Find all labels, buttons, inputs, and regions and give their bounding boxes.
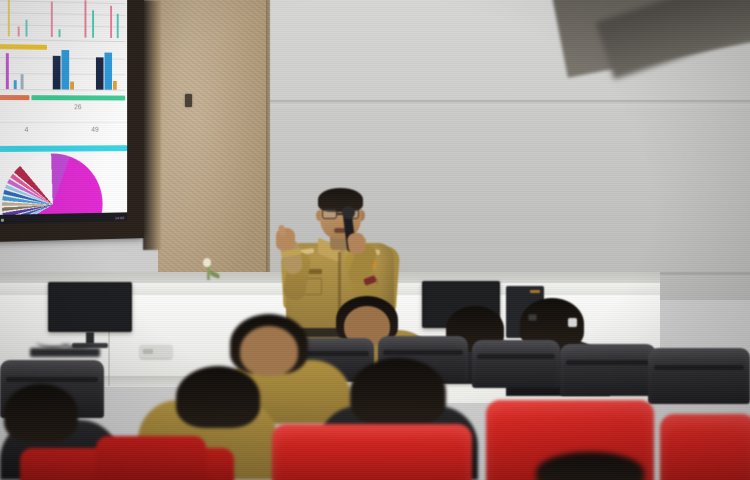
chair-red-center[interactable] [272, 424, 472, 480]
projector-device[interactable] [140, 345, 172, 358]
wall-seam-upper [250, 100, 750, 104]
pie-chart [0, 153, 125, 220]
audience-glasses-icon [528, 314, 537, 321]
chart-middle-bars [0, 49, 127, 98]
wall-switch-icon[interactable] [185, 94, 192, 107]
projection-screen[interactable]: 26 4 49 14:05 [0, 0, 127, 224]
pc-tower-logo [530, 290, 540, 293]
chair-red-left-2[interactable] [96, 436, 206, 480]
kpi-value-b: 4 [18, 127, 36, 134]
wall-tan-panel [158, 0, 270, 285]
hair-clip-icon [568, 318, 577, 327]
chair-black-5[interactable] [648, 348, 750, 404]
accent-bar-green [31, 95, 125, 100]
accent-bar-orange [0, 95, 29, 100]
dashboard-canvas: 26 4 49 14:05 [0, 0, 127, 224]
accent-bar-cyan [0, 145, 127, 152]
glasses-lens-left-icon [322, 209, 337, 219]
chair-black-3[interactable] [472, 340, 560, 388]
kpi-value-c: 49 [85, 127, 104, 134]
monitor-left[interactable] [48, 282, 132, 332]
wall-panel-edge [266, 0, 271, 285]
os-taskbar[interactable]: 14:05 [0, 212, 127, 224]
cable-left-2 [62, 338, 92, 348]
wall-left-strip [143, 0, 161, 250]
chart-top-bars [0, 0, 127, 48]
photo-scene: 26 4 49 14:05 [0, 0, 750, 480]
projection-screen-frame: 26 4 49 14:05 [0, 0, 144, 242]
microphone-head-icon [342, 206, 355, 219]
kpi-value-a: 26 [66, 104, 89, 111]
plant-flower-icon [203, 258, 211, 267]
chair-red-far-right[interactable] [660, 414, 750, 480]
presenter-hand-holding-mic [347, 232, 367, 255]
keyboard-left[interactable] [30, 348, 100, 357]
chair-black-4[interactable] [560, 344, 656, 396]
taskbar-clock: 14:05 [115, 215, 124, 220]
